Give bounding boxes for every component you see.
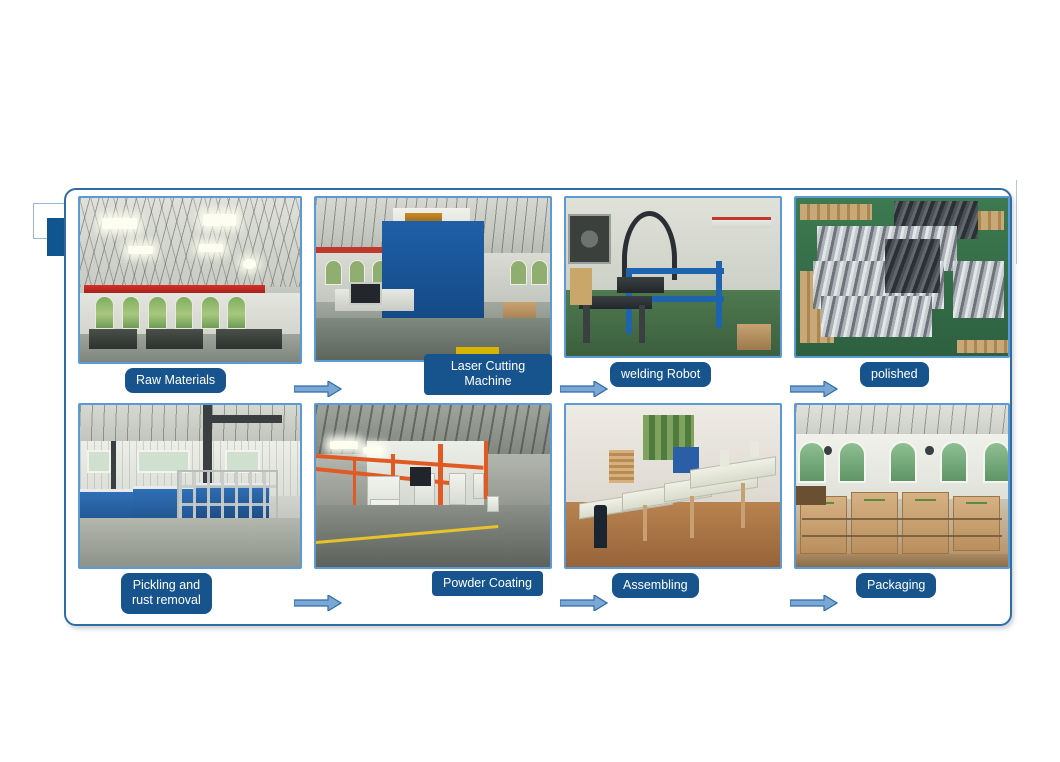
slide-header: Production Workflow Chart TOP OST — [0, 92, 1060, 178]
step-label-powder-coating: Powder Coating — [432, 571, 543, 596]
photo-pickling-rust-removal — [78, 403, 302, 569]
photo-polished-parts — [794, 196, 1010, 358]
workflow-row-2: Pickling and rust removal — [66, 403, 1014, 608]
arrow-right-icon-1 — [294, 381, 342, 397]
workflow-step-polished[interactable]: polished — [794, 196, 1010, 358]
photo-packaging — [794, 403, 1010, 569]
workflow-step-powder-coating[interactable]: Powder Coating — [314, 403, 552, 569]
arrow-right-icon-2 — [560, 381, 608, 397]
arrow-right-icon-6 — [790, 595, 838, 611]
arrow-right-icon-4 — [294, 595, 342, 611]
step-label-assembling: Assembling — [612, 573, 699, 598]
arrow-right-icon-5 — [560, 595, 608, 611]
workflow-row-1: Raw Materials — [66, 196, 1014, 401]
step-label-pickling: Pickling and rust removal — [121, 573, 212, 614]
photo-powder-coating — [314, 403, 552, 569]
photo-welding-robot — [564, 196, 782, 358]
workflow-step-packaging[interactable]: Packaging — [794, 403, 1010, 569]
step-label-welding-robot: welding Robot — [610, 362, 711, 387]
workflow-step-raw-materials[interactable]: Raw Materials — [78, 196, 302, 364]
brand-divider-line — [1016, 180, 1017, 264]
workflow-step-laser-cutting[interactable]: Laser Cutting Machine — [314, 196, 552, 362]
step-label-raw-materials: Raw Materials — [125, 368, 226, 393]
step-label-polished: polished — [860, 362, 929, 387]
arrow-right-icon-3 — [790, 381, 838, 397]
step-label-packaging: Packaging — [856, 573, 936, 598]
step-label-laser-cutting: Laser Cutting Machine — [424, 354, 552, 395]
slide-canvas: Production Workflow Chart TOP OST — [0, 0, 1060, 762]
workflow-container: Raw Materials — [64, 188, 1012, 626]
workflow-step-pickling[interactable]: Pickling and rust removal — [78, 403, 302, 569]
photo-assembling — [564, 403, 782, 569]
photo-raw-materials — [78, 196, 302, 364]
workflow-step-assembling[interactable]: Assembling — [564, 403, 782, 569]
photo-laser-cutting-machine — [314, 196, 552, 362]
workflow-step-welding-robot[interactable]: welding Robot — [564, 196, 782, 358]
